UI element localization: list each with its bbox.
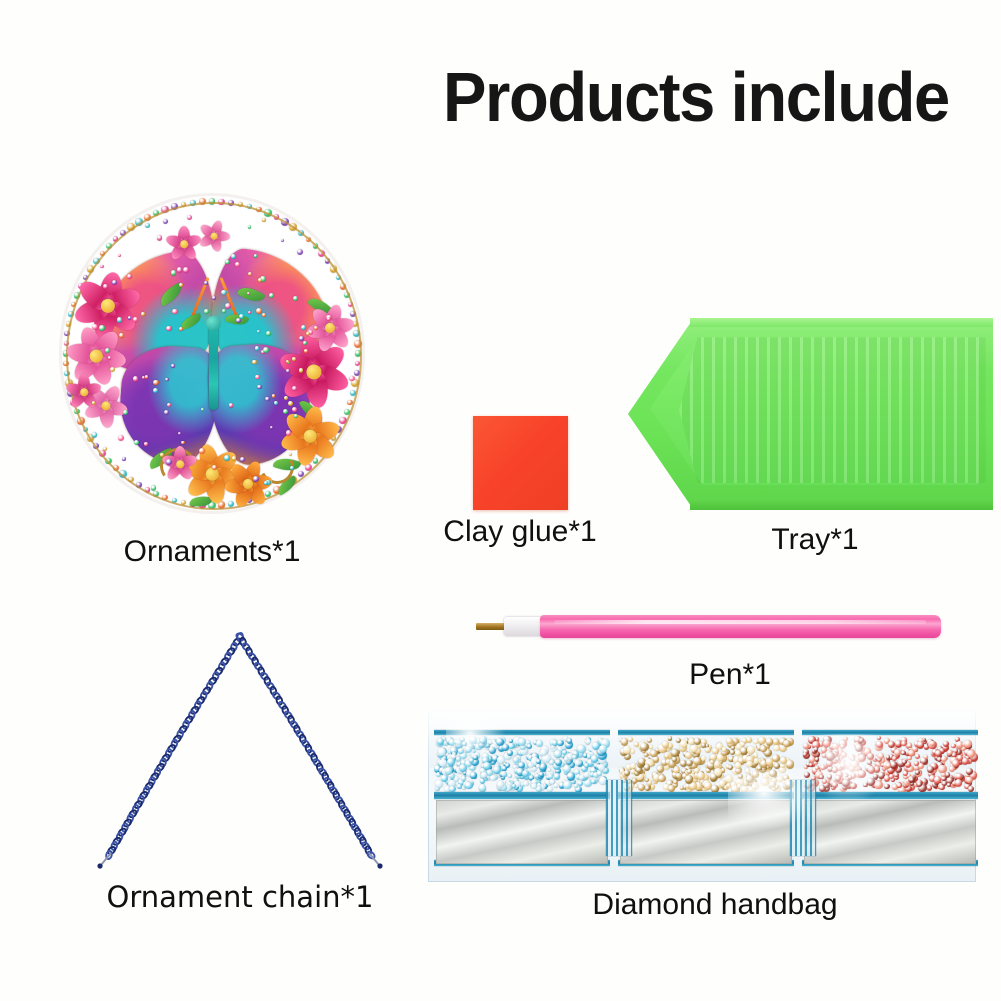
ornament-rhinestone bbox=[141, 312, 145, 316]
ornament-rhinestone bbox=[117, 317, 123, 323]
ornament-rhinestone bbox=[297, 249, 303, 255]
rhinestone-packet-gold-rhinestones bbox=[618, 724, 794, 870]
ornament-rhinestone bbox=[255, 346, 259, 350]
ornament-rhinestone bbox=[269, 293, 274, 298]
pen-barrel bbox=[540, 615, 941, 638]
chain-link bbox=[343, 809, 350, 818]
ornament-rhinestone bbox=[266, 331, 271, 336]
ornament-rhinestone bbox=[166, 459, 172, 465]
ornament-rhinestone bbox=[221, 290, 227, 296]
product-image-pen bbox=[476, 612, 941, 642]
chain-link bbox=[111, 841, 118, 850]
product-image-tray bbox=[628, 318, 993, 510]
packet-zip-seal-top bbox=[802, 730, 978, 735]
packet-foil-body bbox=[620, 800, 792, 864]
chain-link bbox=[359, 837, 366, 846]
ornament-rhinestone bbox=[252, 360, 257, 365]
ornament-rhinestone bbox=[123, 410, 128, 415]
ornament-rhinestone bbox=[145, 375, 148, 378]
ornament-rhinestone bbox=[151, 485, 157, 491]
product-image-clay-glue bbox=[473, 416, 568, 510]
ornament-rhinestone bbox=[224, 455, 230, 461]
chain-link bbox=[116, 832, 123, 841]
ornament-rhinestone bbox=[284, 396, 288, 400]
packet-zip-seal-top bbox=[618, 730, 794, 735]
ornament-rhinestone bbox=[160, 453, 163, 456]
ornament-rhinestone bbox=[274, 401, 278, 405]
packet-foil-body bbox=[804, 800, 976, 864]
rhinestone-cluster bbox=[802, 736, 978, 792]
rhinestone-packet-red-rhinestones bbox=[802, 724, 978, 870]
ornament-rhinestone bbox=[133, 317, 138, 322]
ornament-rhinestone bbox=[289, 453, 292, 456]
ornament-rhinestone bbox=[281, 239, 284, 242]
ornament-rhinestone bbox=[171, 364, 174, 367]
ornament-rhinestone bbox=[248, 311, 251, 314]
packet-zip-seal-top bbox=[434, 730, 610, 735]
ornament-rhinestone bbox=[256, 308, 262, 314]
packet-zip-seal-mid bbox=[434, 792, 610, 799]
chain-link bbox=[132, 805, 139, 814]
ornament-rhinestone bbox=[225, 303, 231, 309]
tray-grooves bbox=[679, 337, 986, 483]
ornament-rhinestone bbox=[119, 333, 124, 338]
caption-diamond-handbag: Diamond handbag bbox=[545, 888, 885, 922]
ornament-rhinestone bbox=[255, 375, 259, 379]
chain-link bbox=[354, 827, 361, 836]
ornament-rhinestone bbox=[164, 410, 170, 416]
caption-clay-glue: Clay glue*1 bbox=[400, 515, 640, 549]
ornament-rhinestone bbox=[118, 254, 121, 257]
caption-pen: Pen*1 bbox=[610, 658, 850, 692]
ornament-rhinestone bbox=[314, 326, 318, 330]
ornament-rhinestone bbox=[212, 296, 216, 300]
ornament-rhinestone bbox=[181, 441, 184, 444]
ornament-rhinestone bbox=[165, 378, 169, 382]
ornament-rhinestone bbox=[240, 457, 245, 462]
ornament-rhinestone bbox=[163, 219, 168, 224]
ornament-rhinestone bbox=[153, 388, 158, 393]
ornament-rhinestone bbox=[144, 442, 148, 446]
ornament-rhinestone bbox=[262, 218, 266, 222]
ornament-rhinestone bbox=[257, 385, 262, 390]
ornament-rhinestone bbox=[258, 278, 262, 282]
ornament-rhinestone bbox=[118, 435, 124, 441]
butterfly-head bbox=[206, 316, 221, 331]
chain-end-cap-right bbox=[377, 863, 382, 868]
packet-zip-seal-mid bbox=[802, 792, 978, 799]
product-image-diamond-handbag bbox=[428, 710, 976, 882]
ornament-rhinestone bbox=[171, 270, 177, 276]
ornament-rhinestone bbox=[327, 317, 330, 320]
packet-zip-seal-mid bbox=[618, 792, 794, 799]
product-contents-infographic: Products include Ornaments*1 Clay glue*1… bbox=[0, 0, 1001, 1001]
caption-ornament-chain: Ornament chain*1 bbox=[60, 880, 420, 914]
ornament-rhinestone bbox=[183, 267, 189, 273]
ornament-rhinestone bbox=[253, 476, 259, 482]
page-title: Products include bbox=[443, 62, 953, 132]
ornament-rhinestone bbox=[306, 332, 309, 335]
rhinestone-packet-blue-rhinestones bbox=[434, 724, 610, 870]
ornament-rhinestone bbox=[133, 376, 138, 381]
ornament-rhinestone bbox=[100, 265, 104, 269]
rhinestone-cluster bbox=[434, 736, 610, 792]
caption-tray: Tray*1 bbox=[695, 523, 935, 557]
ornament-rhinestone bbox=[286, 369, 290, 373]
ornament-rhinestone bbox=[264, 481, 267, 484]
ornament-rhinestone bbox=[99, 325, 104, 330]
ornament-rhinestone bbox=[122, 457, 126, 461]
ornament-rhinestone bbox=[153, 380, 159, 386]
ornament-rhinestone bbox=[92, 324, 98, 330]
chain-link bbox=[127, 814, 134, 823]
pen-highlight bbox=[554, 620, 926, 624]
product-image-ornaments bbox=[62, 196, 362, 511]
ornament-rhinestone bbox=[254, 254, 258, 258]
ornament-rhinestone bbox=[222, 309, 226, 313]
ornament-rhinestone bbox=[179, 283, 183, 287]
ornament-rhinestone bbox=[225, 260, 229, 264]
packet-foil-body bbox=[436, 800, 608, 864]
ornament-rhinestone bbox=[172, 309, 177, 314]
butterfly-body bbox=[209, 324, 218, 410]
ornament-rhinestone bbox=[166, 326, 171, 331]
ornament-rhinestone bbox=[108, 356, 112, 360]
ornament-rhinestone bbox=[263, 347, 269, 353]
tray-rim-top bbox=[690, 318, 993, 327]
rhinestone-cluster bbox=[618, 736, 794, 792]
chain-link bbox=[121, 823, 128, 832]
chain-svg bbox=[95, 625, 385, 875]
ornament-rhinestone bbox=[199, 448, 205, 454]
ornament-rhinestone bbox=[110, 367, 115, 372]
packet-zipper-grip-1 bbox=[606, 780, 632, 856]
ornament-rhinestone bbox=[204, 309, 209, 314]
ornament-rhinestone bbox=[272, 394, 276, 398]
packet-zipper-grip-2 bbox=[790, 780, 816, 856]
ornament-rhinestone bbox=[177, 267, 182, 272]
ornament-rhinestone bbox=[179, 327, 183, 331]
ornament-rhinestone bbox=[303, 341, 307, 345]
tray-rim-bottom bbox=[690, 499, 993, 510]
chain-end-cap-left bbox=[97, 863, 102, 868]
product-image-ornament-chain bbox=[95, 625, 385, 875]
ornament-rhinestone bbox=[248, 225, 251, 228]
caption-ornaments: Ornaments*1 bbox=[30, 535, 394, 569]
chain-link bbox=[349, 818, 356, 827]
ornament-rhinestone bbox=[265, 397, 270, 402]
